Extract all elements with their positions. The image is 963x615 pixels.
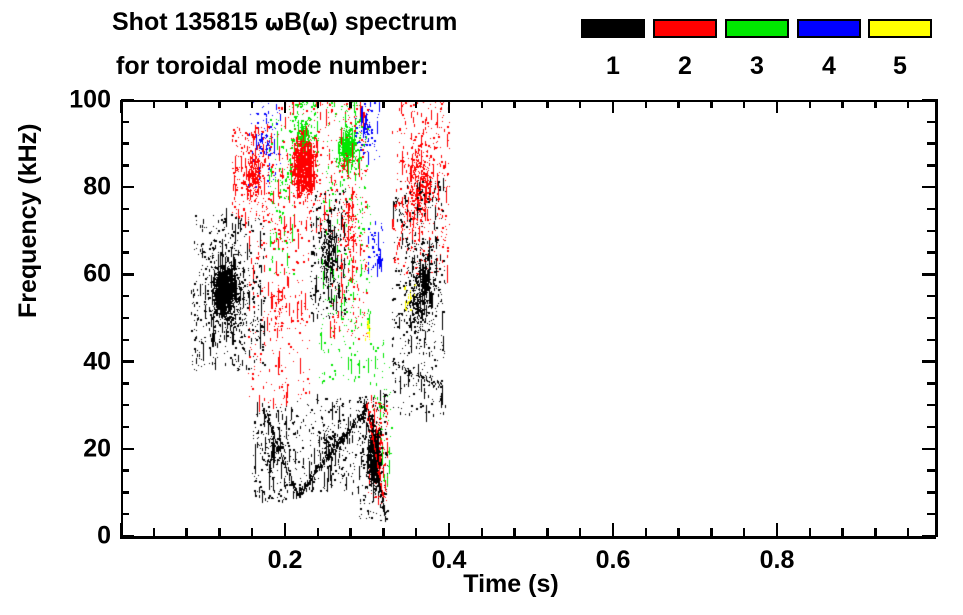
x-tick-top-0.64 bbox=[645, 100, 648, 108]
y-tick-right-50 bbox=[927, 317, 935, 320]
y-tick-label-60: 60 bbox=[83, 260, 111, 289]
y-tick-label-20: 20 bbox=[83, 434, 111, 463]
y-tick-35 bbox=[121, 382, 129, 385]
x-tick-top-0.92 bbox=[874, 100, 877, 108]
y-tick-30 bbox=[121, 404, 129, 407]
x-tick-top-0.72 bbox=[710, 100, 713, 108]
y-tick-40 bbox=[121, 360, 134, 363]
x-tick-0.76 bbox=[743, 528, 746, 536]
x-tick-top-0.08 bbox=[185, 100, 188, 108]
y-tick-right-0 bbox=[922, 535, 935, 538]
y-tick-15 bbox=[121, 469, 129, 472]
legend-swatch-mode-4 bbox=[797, 19, 861, 38]
x-tick-0.68 bbox=[677, 528, 680, 536]
x-tick-0.08 bbox=[185, 528, 188, 536]
x-tick-0.84 bbox=[809, 528, 812, 536]
y-tick-right-85 bbox=[927, 164, 935, 167]
plot-page: Shot 135815 ωB(ω) spectrum for toroidal … bbox=[0, 0, 963, 615]
x-tick-top-0.80 bbox=[776, 100, 779, 113]
y-tick-right-35 bbox=[927, 382, 935, 385]
y-tick-right-40 bbox=[922, 360, 935, 363]
x-tick-0.40 bbox=[448, 523, 451, 536]
legend-label-mode-3: 3 bbox=[725, 52, 789, 81]
y-tick-65 bbox=[121, 251, 129, 254]
y-tick-90 bbox=[121, 142, 129, 145]
y-tick-right-25 bbox=[927, 426, 935, 429]
y-tick-label-40: 40 bbox=[83, 347, 111, 376]
legend-label-mode-2: 2 bbox=[653, 52, 717, 81]
x-tick-top-0.28 bbox=[349, 100, 352, 108]
x-tick-0.44 bbox=[481, 528, 484, 536]
x-tick-top-0.20 bbox=[284, 100, 287, 113]
legend-label-mode-5: 5 bbox=[868, 52, 932, 81]
y-tick-right-100 bbox=[922, 99, 935, 102]
x-tick-0.80 bbox=[776, 523, 779, 536]
y-tick-right-15 bbox=[927, 469, 935, 472]
y-tick-80 bbox=[121, 186, 134, 189]
x-tick-top-0.68 bbox=[677, 100, 680, 108]
x-axis-line bbox=[120, 536, 936, 539]
x-tick-top-0.76 bbox=[743, 100, 746, 108]
y-tick-right-30 bbox=[927, 404, 935, 407]
y-tick-5 bbox=[121, 513, 129, 516]
x-axis-title: Time (s) bbox=[463, 570, 558, 599]
x-tick-label-0.4: 0.4 bbox=[432, 546, 467, 575]
y-tick-right-20 bbox=[922, 448, 935, 451]
legend-label-mode-4: 4 bbox=[797, 52, 861, 81]
x-tick-0.92 bbox=[874, 528, 877, 536]
x-tick-0.12 bbox=[218, 528, 221, 536]
x-tick-0.60 bbox=[612, 523, 615, 536]
y-tick-100 bbox=[121, 99, 134, 102]
x-tick-top-0.44 bbox=[481, 100, 484, 108]
x-tick-top-0.04 bbox=[153, 100, 156, 108]
x-tick-top-0.12 bbox=[218, 100, 221, 108]
y-tick-right-10 bbox=[927, 491, 935, 494]
x-tick-top-0.52 bbox=[546, 100, 549, 108]
legend-label-mode-1: 1 bbox=[581, 52, 645, 81]
x-tick-top-0.56 bbox=[579, 100, 582, 108]
x-tick-top-0.40 bbox=[448, 100, 451, 113]
y-tick-50 bbox=[121, 317, 129, 320]
y-axis-right-line bbox=[935, 99, 938, 537]
x-tick-top-0.48 bbox=[513, 100, 516, 108]
y-tick-75 bbox=[121, 208, 129, 211]
y-tick-70 bbox=[121, 230, 129, 233]
x-tick-0.56 bbox=[579, 528, 582, 536]
x-tick-0.04 bbox=[153, 528, 156, 536]
plot-area: 020406080100 0.20.40.60.8 bbox=[121, 100, 935, 536]
legend-swatch-mode-3 bbox=[725, 19, 789, 38]
y-tick-right-80 bbox=[922, 186, 935, 189]
x-tick-0.64 bbox=[645, 528, 648, 536]
legend-swatch-mode-5 bbox=[868, 19, 932, 38]
x-tick-top-0.32 bbox=[382, 100, 385, 108]
legend-swatch-mode-1 bbox=[581, 19, 645, 38]
y-tick-right-45 bbox=[927, 339, 935, 342]
y-tick-45 bbox=[121, 339, 129, 342]
y-tick-label-100: 100 bbox=[69, 86, 111, 115]
y-tick-0 bbox=[121, 535, 134, 538]
y-tick-55 bbox=[121, 295, 129, 298]
x-tick-label-0.8: 0.8 bbox=[760, 546, 795, 575]
x-tick-0.96 bbox=[907, 528, 910, 536]
x-tick-top-0.84 bbox=[809, 100, 812, 108]
x-tick-top-0.96 bbox=[907, 100, 910, 108]
y-tick-10 bbox=[121, 491, 129, 494]
x-tick-top-0.16 bbox=[251, 100, 254, 108]
x-tick-0.20 bbox=[284, 523, 287, 536]
x-tick-0.36 bbox=[415, 528, 418, 536]
y-tick-right-75 bbox=[927, 208, 935, 211]
y-axis-title: Frequency (kHz) bbox=[14, 124, 43, 318]
y-tick-right-90 bbox=[927, 142, 935, 145]
x-tick-0.72 bbox=[710, 528, 713, 536]
y-tick-label-0: 0 bbox=[97, 522, 111, 551]
y-tick-right-5 bbox=[927, 513, 935, 516]
y-tick-right-70 bbox=[927, 230, 935, 233]
x-tick-0.48 bbox=[513, 528, 516, 536]
y-tick-label-80: 80 bbox=[83, 173, 111, 202]
x-tick-label-0.2: 0.2 bbox=[268, 546, 303, 575]
x-tick-0.16 bbox=[251, 528, 254, 536]
x-tick-0.52 bbox=[546, 528, 549, 536]
y-tick-60 bbox=[121, 273, 134, 276]
x-tick-label-0.6: 0.6 bbox=[596, 546, 631, 575]
x-tick-0.00 bbox=[120, 523, 123, 536]
legend: 12345 bbox=[0, 0, 963, 95]
y-tick-right-95 bbox=[927, 121, 935, 124]
x-tick-top-0.00 bbox=[120, 100, 123, 113]
x-tick-top-0.36 bbox=[415, 100, 418, 108]
x-tick-0.32 bbox=[382, 528, 385, 536]
y-tick-25 bbox=[121, 426, 129, 429]
x-tick-0.88 bbox=[841, 528, 844, 536]
plot-frame bbox=[121, 100, 935, 536]
x-tick-0.28 bbox=[349, 528, 352, 536]
y-tick-right-55 bbox=[927, 295, 935, 298]
y-tick-right-60 bbox=[922, 273, 935, 276]
x-tick-top-0.88 bbox=[841, 100, 844, 108]
y-tick-85 bbox=[121, 164, 129, 167]
legend-swatch-mode-2 bbox=[653, 19, 717, 38]
y-tick-right-65 bbox=[927, 251, 935, 254]
y-tick-95 bbox=[121, 121, 129, 124]
x-tick-top-0.24 bbox=[317, 100, 320, 108]
y-tick-20 bbox=[121, 448, 134, 451]
x-tick-0.24 bbox=[317, 528, 320, 536]
x-tick-top-0.60 bbox=[612, 100, 615, 113]
